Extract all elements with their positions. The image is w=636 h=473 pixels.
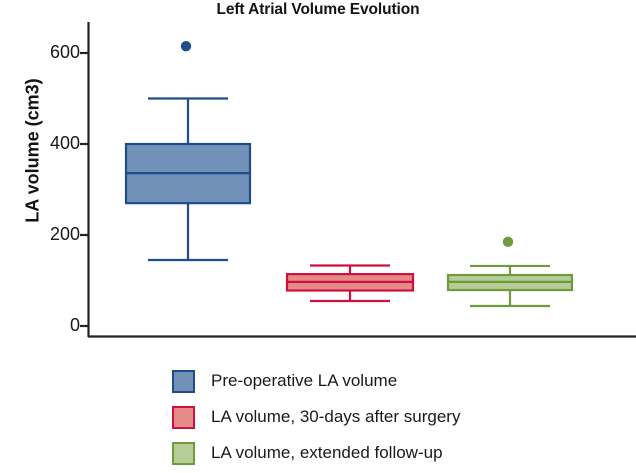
legend-item-label: LA volume, extended follow-up [211, 443, 443, 463]
box-plot-group [287, 265, 413, 300]
box-plot-group [448, 237, 572, 306]
outlier-point [503, 237, 513, 247]
legend: Pre-operative LA volumeLA volume, 30-day… [172, 363, 632, 471]
legend-item[interactable]: Pre-operative LA volume [172, 363, 632, 399]
y-axis-ticks [80, 53, 88, 326]
figure: Left Atrial Volume Evolution LA volume (… [0, 0, 636, 473]
legend-swatch [172, 370, 195, 393]
legend-swatch [172, 406, 195, 429]
outlier-point [181, 41, 191, 51]
legend-item[interactable]: LA volume, 30-days after surgery [172, 399, 632, 435]
box-plot-group [126, 41, 250, 260]
legend-item[interactable]: LA volume, extended follow-up [172, 435, 632, 471]
legend-swatch [172, 442, 195, 465]
legend-item-label: LA volume, 30-days after surgery [211, 407, 460, 427]
legend-item-label: Pre-operative LA volume [211, 371, 397, 391]
boxes-layer [126, 41, 572, 306]
